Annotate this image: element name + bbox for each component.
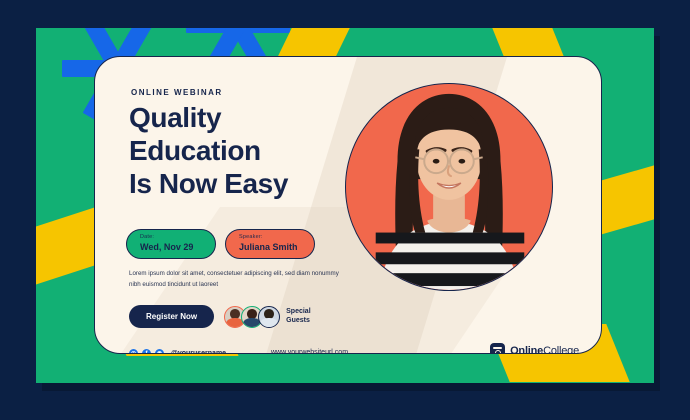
avatar-body — [260, 318, 278, 327]
brand-name-regular: College — [543, 345, 579, 355]
headline-line-2: Education — [129, 135, 369, 168]
date-badge-label: Date: — [140, 235, 202, 241]
speaker-portrait — [345, 83, 553, 291]
social-links: ◎ f ◉ @yourusername — [129, 349, 226, 354]
date-badge: Date: Wed, Nov 29 — [126, 229, 216, 259]
speaker-badge: Speaker: Juliana Smith — [225, 229, 315, 259]
content-card: ONLINE WEBINAR Quality Education Is Now … — [94, 56, 602, 354]
page-title: Quality Education Is Now Easy — [129, 102, 369, 200]
brand-name-bold: Online — [510, 345, 543, 355]
special-guests: Special Guests — [224, 306, 311, 328]
special-guests-label-line-2: Guests — [286, 317, 311, 326]
graduation-cap-icon — [490, 343, 505, 354]
avatar[interactable] — [258, 306, 280, 328]
special-guests-label: Special Guests — [286, 308, 311, 326]
website-url[interactable]: www.yourwebsiteurl.com — [271, 349, 348, 354]
info-badges: Date: Wed, Nov 29 Speaker: Juliana Smith — [126, 229, 315, 259]
cta-row: Register Now — [129, 305, 311, 328]
instagram-icon[interactable]: ◎ — [129, 349, 138, 354]
headline-line-3: Is Now Easy — [129, 168, 369, 201]
eyebrow-label: ONLINE WEBINAR — [131, 88, 223, 97]
speaker-photo — [346, 84, 552, 290]
portrait-circle — [345, 83, 553, 291]
register-now-button[interactable]: Register Now — [129, 305, 214, 328]
speaker-badge-value: Juliana Smith — [239, 243, 301, 252]
facebook-icon[interactable]: f — [142, 349, 151, 354]
twitter-icon[interactable]: ◉ — [155, 349, 164, 354]
brand-logo: OnlineCollege — [490, 343, 579, 354]
headline-line-1: Quality — [129, 102, 369, 135]
brand-logo-text: OnlineCollege — [510, 345, 579, 355]
speaker-badge-label: Speaker: — [239, 235, 301, 241]
guest-avatars — [224, 306, 280, 328]
special-guests-label-line-1: Special — [286, 308, 311, 317]
body-copy: Lorem ipsum dolor sit amet, consectetuer… — [129, 269, 345, 291]
webinar-banner: ONLINE WEBINAR Quality Education Is Now … — [36, 28, 654, 383]
social-handle: @yourusername — [171, 350, 226, 354]
date-badge-value: Wed, Nov 29 — [140, 243, 202, 252]
